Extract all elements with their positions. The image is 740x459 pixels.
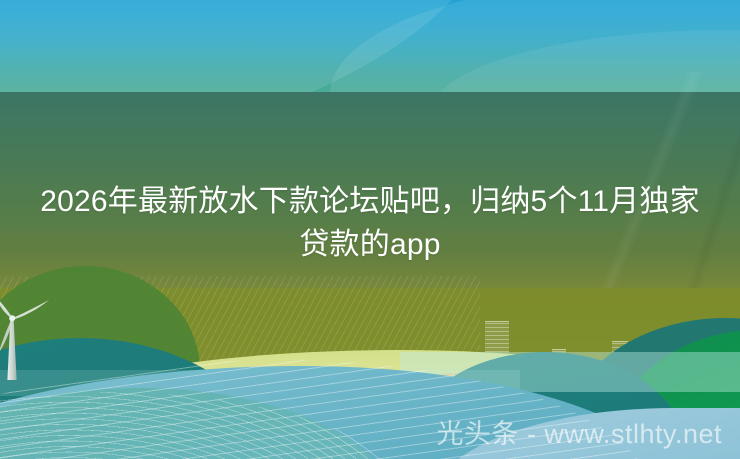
headline-line-1: 2026年最新放水下款论坛贴吧，归纳5	[40, 185, 547, 218]
wind-turbine-icon	[0, 296, 74, 388]
headline-text: 2026年最新放水下款论坛贴吧，归纳5个11月独家贷款的app	[0, 180, 740, 266]
eco-banner-image: 2026年最新放水下款论坛贴吧，归纳5个11月独家贷款的app 光头条 - ww…	[0, 0, 740, 459]
site-watermark: 光头条 - www.stlhty.net	[0, 412, 722, 451]
